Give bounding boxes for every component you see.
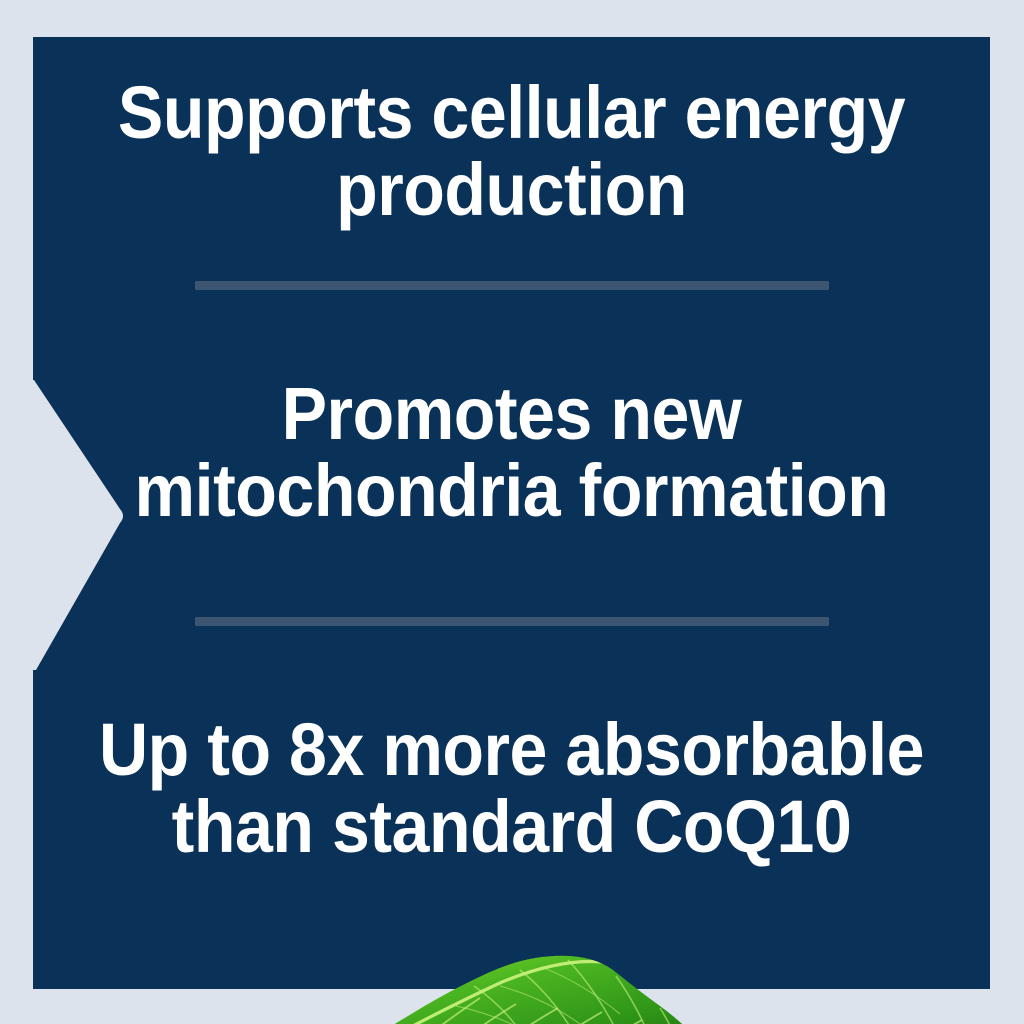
benefit-divider <box>195 617 829 626</box>
benefits-list: Supports cellular energy production Prom… <box>33 37 990 989</box>
benefit-text: Up to 8x more absorbable than standard C… <box>90 712 934 866</box>
benefit-item: Up to 8x more absorbable than standard C… <box>33 639 990 939</box>
benefit-divider <box>195 281 829 290</box>
divider-row <box>33 267 990 303</box>
screenshot-canvas: Supports cellular energy production Prom… <box>0 0 1024 1024</box>
benefit-item: Promotes new mitochondria formation <box>33 303 990 603</box>
benefit-text: Supports cellular energy production <box>90 75 934 229</box>
benefit-item: Supports cellular energy production <box>33 37 990 267</box>
benefit-text: Promotes new mitochondria formation <box>90 376 934 530</box>
divider-row <box>33 603 990 639</box>
